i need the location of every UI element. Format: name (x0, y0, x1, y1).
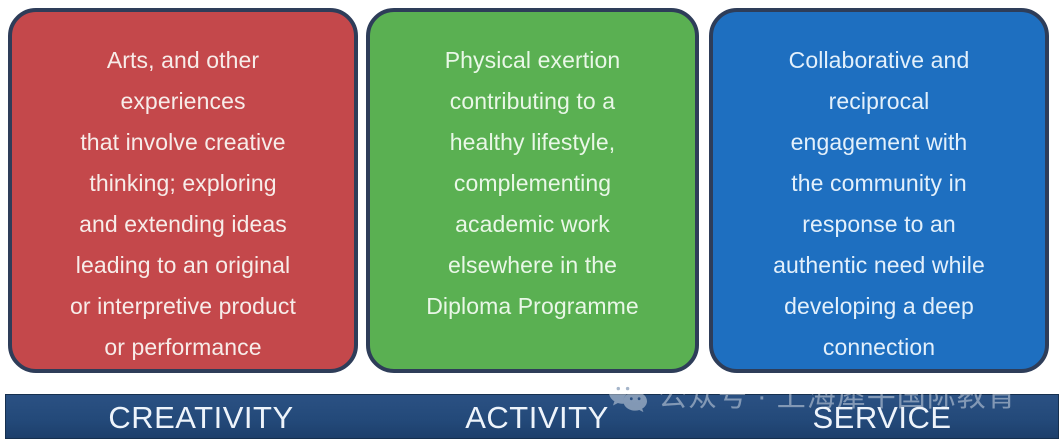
cas-diagram: Arts, and other experiences that involve… (0, 0, 1064, 445)
card-creativity-body: Arts, and other experiences that involve… (70, 40, 296, 368)
card-service-body: Collaborative and reciprocal engagement … (773, 40, 985, 368)
card-activity: Physical exertion contributing to a heal… (366, 8, 699, 373)
card-creativity: Arts, and other experiences that involve… (8, 8, 358, 373)
label-activity: ACTIVITY (406, 397, 668, 438)
category-band: CREATIVITY ACTIVITY SERVICE (5, 394, 1059, 439)
card-activity-body: Physical exertion contributing to a heal… (426, 40, 639, 327)
label-service: SERVICE (751, 397, 1013, 438)
label-creativity: CREATIVITY (66, 397, 336, 438)
card-service: Collaborative and reciprocal engagement … (709, 8, 1049, 373)
